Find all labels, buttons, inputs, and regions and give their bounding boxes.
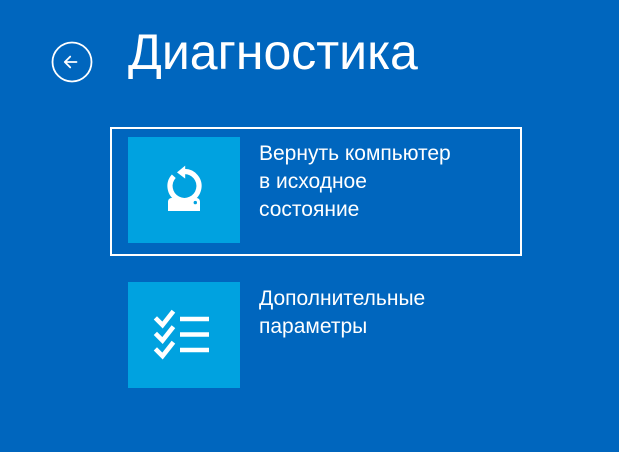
menu-item-advanced-options[interactable]: Дополнительные параметры xyxy=(110,271,522,400)
checklist-icon-tile xyxy=(128,282,240,388)
reset-pc-icon xyxy=(151,157,217,223)
menu-item-label: Дополнительные параметры xyxy=(259,285,425,341)
reset-pc-icon-tile xyxy=(128,137,240,243)
checklist-icon xyxy=(153,307,215,363)
menu-item-reset-pc[interactable]: Вернуть компьютер в исходное состояние xyxy=(110,127,522,256)
recovery-options-menu: Вернуть компьютер в исходное состояние xyxy=(0,0,619,452)
menu-item-label: Вернуть компьютер в исходное состояние xyxy=(259,140,451,224)
